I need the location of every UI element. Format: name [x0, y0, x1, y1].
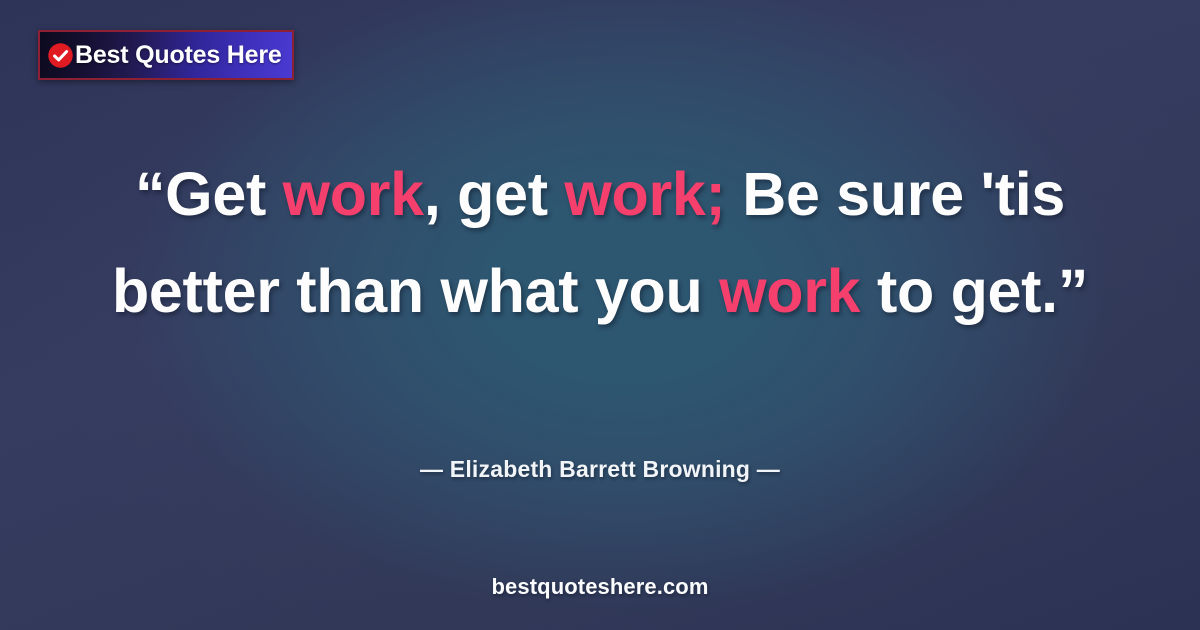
footer-website-url: bestquoteshere.com	[0, 574, 1200, 600]
quote-highlight-word: work	[283, 160, 424, 228]
site-logo-label: Best Quotes Here	[75, 41, 282, 70]
quote-attribution: — Elizabeth Barrett Browning —	[0, 456, 1200, 483]
check-circle-icon	[47, 42, 74, 69]
site-logo-badge[interactable]: Best Quotes Here	[38, 30, 294, 80]
quote-highlight-word: work;	[564, 160, 725, 228]
quote-highlight-word: work	[719, 257, 860, 325]
quote-segment: to get.”	[860, 257, 1088, 325]
quote-segment: “Get	[135, 160, 283, 228]
quote-card: Best Quotes Here “Get work, get work; Be…	[0, 0, 1200, 630]
quote-text: “Get work, get work; Be sure 'tis better…	[0, 146, 1200, 340]
quote-block: “Get work, get work; Be sure 'tis better…	[0, 146, 1200, 340]
quote-segment: , get	[424, 160, 565, 228]
